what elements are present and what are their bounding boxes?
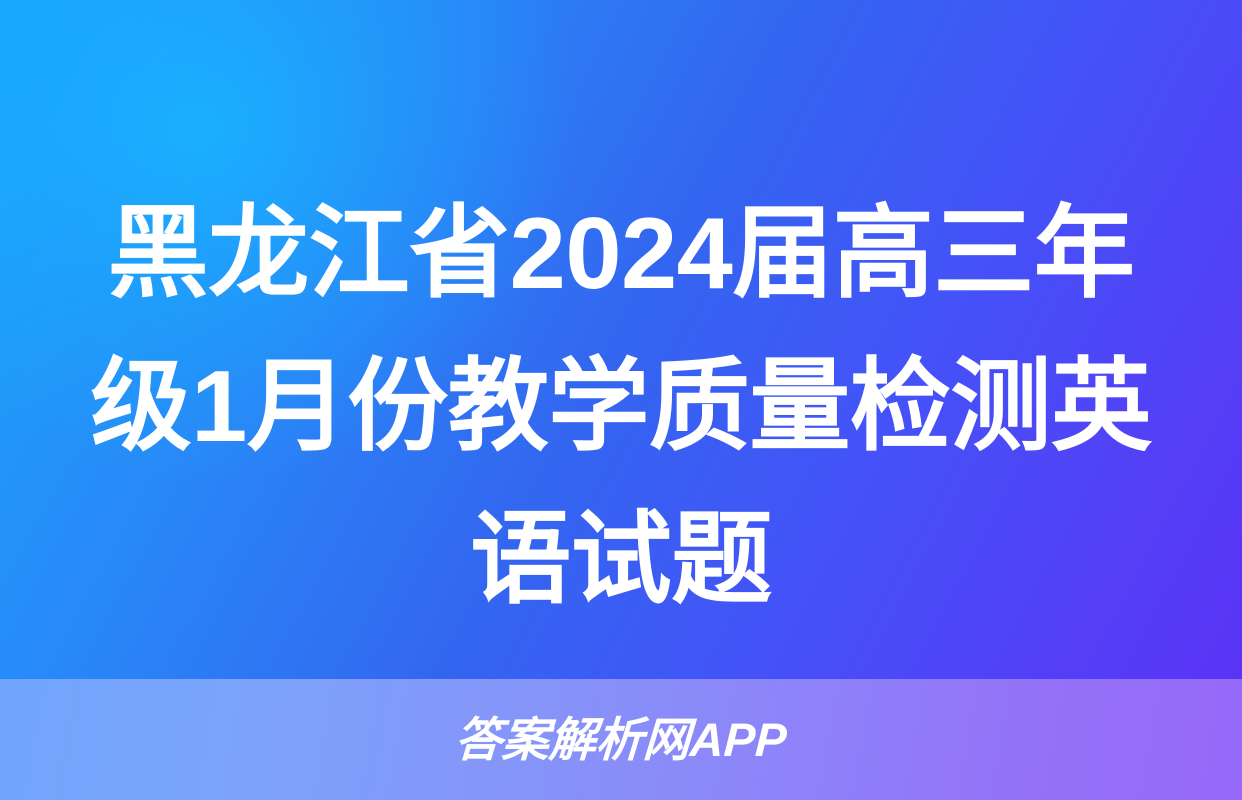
page-title: 黑龙江省2024届高三年 级1月份教学质量检测英 语试题 xyxy=(0,178,1242,637)
watermark-band: 答案解析网APP xyxy=(0,679,1242,800)
title-line-2: 级1月份教学质量检测英 xyxy=(46,331,1196,484)
title-line-3: 语试题 xyxy=(46,484,1196,637)
poster-canvas: 黑龙江省2024届高三年 级1月份教学质量检测英 语试题 答案解析网APP xyxy=(0,0,1242,800)
watermark-label: 答案解析网APP xyxy=(454,716,788,763)
title-line-1: 黑龙江省2024届高三年 xyxy=(46,178,1196,331)
